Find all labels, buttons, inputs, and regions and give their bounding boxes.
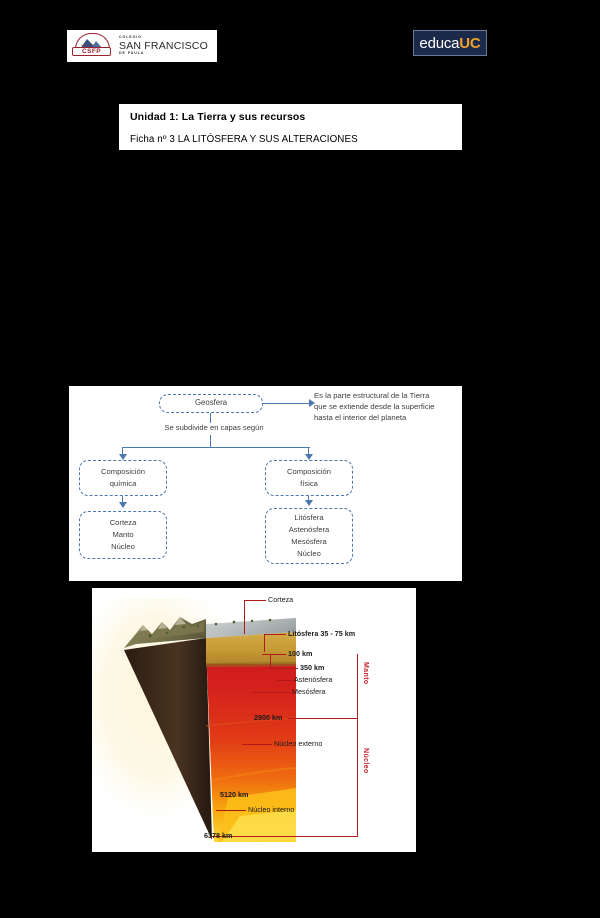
callout-line-100km	[262, 654, 286, 655]
unit-title: Unidad 1: La Tierra y sus recursos	[130, 111, 452, 123]
physical-layer-item: Litósfera	[294, 512, 323, 524]
csfp-badge-text: CSFP	[72, 47, 111, 56]
label-6378km: 6378 km	[204, 831, 232, 840]
callout-line-litosfera-vertical	[264, 634, 265, 652]
callout-line-2900km	[288, 718, 358, 719]
platform-logo-primary: educa	[419, 35, 459, 52]
chemical-layer-item: Corteza	[110, 517, 137, 529]
connector-split-horizontal	[122, 447, 310, 448]
school-logo: COLEGIO CSFP COLEGIO SAN FRANCISCO DE PA…	[66, 29, 218, 63]
sheet-title: Ficha nº 3 LA LITÓSFERA Y SUS ALTERACION…	[130, 134, 452, 145]
geosphere-flowchart: Geosfera Es la parte estructural de la T…	[69, 386, 462, 581]
callout-line-corteza	[244, 600, 266, 601]
callout-line-mesosfera	[252, 692, 290, 693]
label-5120km: 5120 km	[220, 790, 248, 799]
arrow-down-physical-icon	[305, 500, 313, 506]
callout-line-litosfera	[264, 634, 286, 635]
csfp-badge-icon: COLEGIO CSFP	[72, 33, 112, 59]
callout-line-nucleo-externo	[242, 744, 272, 745]
bracket-label-manto: Manto	[362, 662, 369, 685]
callout-line-corteza-vertical	[244, 600, 245, 634]
callout-line-350km	[270, 668, 298, 669]
branch-physical-line1: Composición	[287, 466, 331, 478]
flowchart-physical-layers: Litósfera Astenósfera Mesósfera Núcleo	[265, 508, 353, 564]
chemical-layer-item: Manto	[112, 529, 133, 541]
callout-line-astenosfera	[276, 680, 292, 681]
bracket-manto	[357, 654, 358, 718]
branch-physical-line2: física	[300, 478, 318, 490]
bracket-nucleo	[357, 718, 358, 836]
chemical-layer-item: Núcleo	[111, 541, 135, 553]
connector-root-to-description	[263, 403, 311, 404]
platform-logo: educaUC	[413, 30, 487, 56]
label-mesosfera: Mesósfera	[292, 687, 326, 696]
branch-chemical-line2: química	[110, 478, 137, 490]
flowchart-subdivision-caption: Se subdivide en capas según	[141, 423, 287, 432]
label-nucleo-interno: Núcleo interno	[248, 805, 294, 814]
label-corteza: Corteza	[268, 595, 293, 604]
label-nucleo-externo: Núcleo externo	[274, 739, 322, 748]
earth-cross-section-diagram: Corteza Litósfera 35 - 75 km 100 km 350 …	[92, 588, 416, 852]
flowchart-chemical-layers: Corteza Manto Núcleo	[79, 511, 167, 559]
label-astenosfera: Astenósfera	[294, 675, 332, 684]
callout-line-350km-vertical	[270, 654, 271, 668]
flowchart-root-node: Geosfera	[159, 394, 263, 413]
physical-layer-item: Mesósfera	[291, 536, 326, 548]
physical-layer-item: Astenósfera	[289, 524, 330, 536]
label-350km: 350 km	[300, 663, 324, 672]
worksheet-title-box: Unidad 1: La Tierra y sus recursos Ficha…	[118, 103, 463, 151]
callout-line-nucleo-interno	[216, 810, 246, 811]
flowchart-branch-chemical-criterion: Composición química	[79, 460, 167, 496]
label-2900km: 2900 km	[254, 713, 282, 722]
bracket-label-nucleo: Núcleo	[362, 748, 369, 774]
school-logo-name: SAN FRANCISCO	[119, 41, 208, 52]
label-100km: 100 km	[288, 649, 312, 658]
flowchart-root-description: Es la parte estructural de la Tierra que…	[314, 390, 442, 423]
connector-root-down-upper	[210, 413, 211, 423]
branch-chemical-line1: Composición	[101, 466, 145, 478]
platform-logo-accent: UC	[459, 35, 480, 52]
label-litosfera: Litósfera 35 - 75 km	[288, 629, 355, 638]
school-logo-posttext: DE PAULA	[119, 52, 208, 56]
flowchart-root-label: Geosfera	[195, 397, 227, 409]
physical-layer-item: Núcleo	[297, 548, 321, 560]
arrow-down-chemical-icon	[119, 502, 127, 508]
flowchart-branch-physical-criterion: Composición física	[265, 460, 353, 496]
